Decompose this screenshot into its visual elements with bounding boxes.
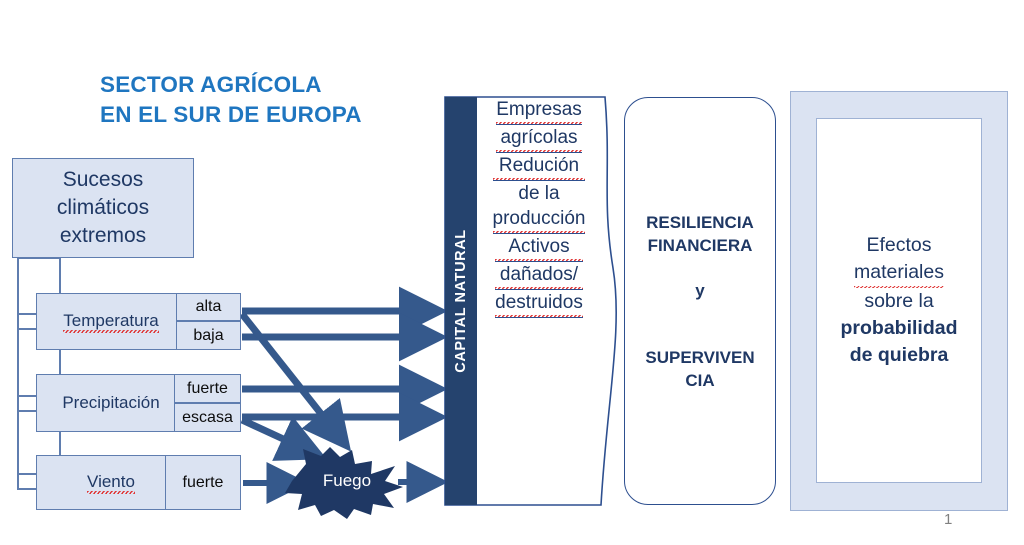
page-title-line1: SECTOR AGRÍCOLA <box>100 70 500 100</box>
level-label-precip-fuerte: fuerte <box>187 380 228 398</box>
capital-natural-bar: CAPITAL NATURAL <box>445 97 477 505</box>
driver-label-viento: Viento <box>87 472 135 494</box>
capital-natural-text: Empresas agrícolas Redución de la produc… <box>477 97 601 505</box>
resiliencia-block-1: RESILIENCIA FINANCIERA <box>646 211 754 257</box>
level-box-viento-fuerte[interactable]: fuerte <box>165 455 241 510</box>
page-title-line2: EN EL SUR DE EUROPA <box>100 100 500 130</box>
fuego-label: Fuego <box>292 447 402 515</box>
level-label-alta: alta <box>196 298 222 316</box>
page-title: SECTOR AGRÍCOLA EN EL SUR DE EUROPA <box>100 70 500 130</box>
capital-natural-panel[interactable]: CAPITAL NATURAL Empresas agrícolas Reduc… <box>445 97 620 505</box>
level-label-viento-fuerte: fuerte <box>183 474 224 492</box>
level-label-precip-escasa: escasa <box>182 409 233 427</box>
cn-activos-line3: destruidos <box>495 290 583 318</box>
cn-reduccion-line1: Redución <box>493 153 586 181</box>
sucesos-line-3: extremos <box>60 222 146 250</box>
cn-empresas-line2: agrícolas <box>496 125 582 153</box>
arrow-alta-to-fuego <box>242 314 345 444</box>
level-box-temperatura-alta[interactable]: alta <box>176 293 241 321</box>
driver-box-precipitacion[interactable]: Precipitación <box>36 374 186 432</box>
level-box-precipitacion-escasa[interactable]: escasa <box>174 403 241 432</box>
cn-reduccion-line3: producción <box>493 206 586 234</box>
cn-group-empresas: Empresas agrícolas <box>496 97 582 153</box>
efectos-bold-line1: probabilidad <box>841 315 958 342</box>
capital-natural-bar-label: CAPITAL NATURAL <box>453 229 469 373</box>
driver-box-viento[interactable]: Viento <box>36 455 186 510</box>
resiliencia-conjunction: y <box>695 279 704 302</box>
resiliencia-panel[interactable]: RESILIENCIA FINANCIERA y SUPERVIVEN CIA <box>624 97 776 505</box>
cn-group-activos: Activos dañados/ destruidos <box>495 234 583 318</box>
slide-canvas: SECTOR AGRÍCOLA EN EL SUR DE EUROPA <box>0 0 1024 545</box>
page-number: 1 <box>944 511 952 528</box>
cn-activos-line2: dañados/ <box>495 262 583 290</box>
driver-label-precipitacion: Precipitación <box>62 393 159 413</box>
capital-natural-body: Empresas agrícolas Redución de la produc… <box>477 97 620 505</box>
level-label-baja: baja <box>193 327 223 345</box>
source-box-sucesos[interactable]: Sucesos climáticos extremos <box>12 158 194 258</box>
driver-box-temperatura[interactable]: Temperatura <box>36 293 186 350</box>
resiliencia-line3: SUPERVIVEN <box>645 346 754 369</box>
level-box-precipitacion-fuerte[interactable]: fuerte <box>174 374 241 403</box>
cn-reduccion-line2: de la <box>493 181 586 206</box>
cn-activos-line1: Activos <box>495 234 583 262</box>
efectos-panel[interactable]: Efectos materiales sobre la probabilidad… <box>816 118 982 483</box>
sucesos-line-2: climáticos <box>57 194 149 222</box>
sucesos-line-1: Sucesos <box>63 166 144 194</box>
efectos-outer-frame: Efectos materiales sobre la probabilidad… <box>790 91 1008 511</box>
resiliencia-line4: CIA <box>645 369 754 392</box>
efectos-bold-line2: de quiebra <box>850 342 949 369</box>
resiliencia-line1: RESILIENCIA <box>646 211 754 234</box>
cn-empresas-line1: Empresas <box>496 97 582 125</box>
cn-group-reduccion: Redución de la producción <box>493 153 586 234</box>
efectos-line3: sobre la <box>864 288 933 315</box>
driver-label-temperatura: Temperatura <box>63 311 158 333</box>
efectos-line2: materiales <box>854 259 944 288</box>
fuego-node[interactable]: Fuego <box>292 447 402 515</box>
resiliencia-line2: FINANCIERA <box>646 234 754 257</box>
resiliencia-block-2: SUPERVIVEN CIA <box>645 346 754 392</box>
level-box-temperatura-baja[interactable]: baja <box>176 321 241 350</box>
efectos-line1: Efectos <box>866 232 931 259</box>
